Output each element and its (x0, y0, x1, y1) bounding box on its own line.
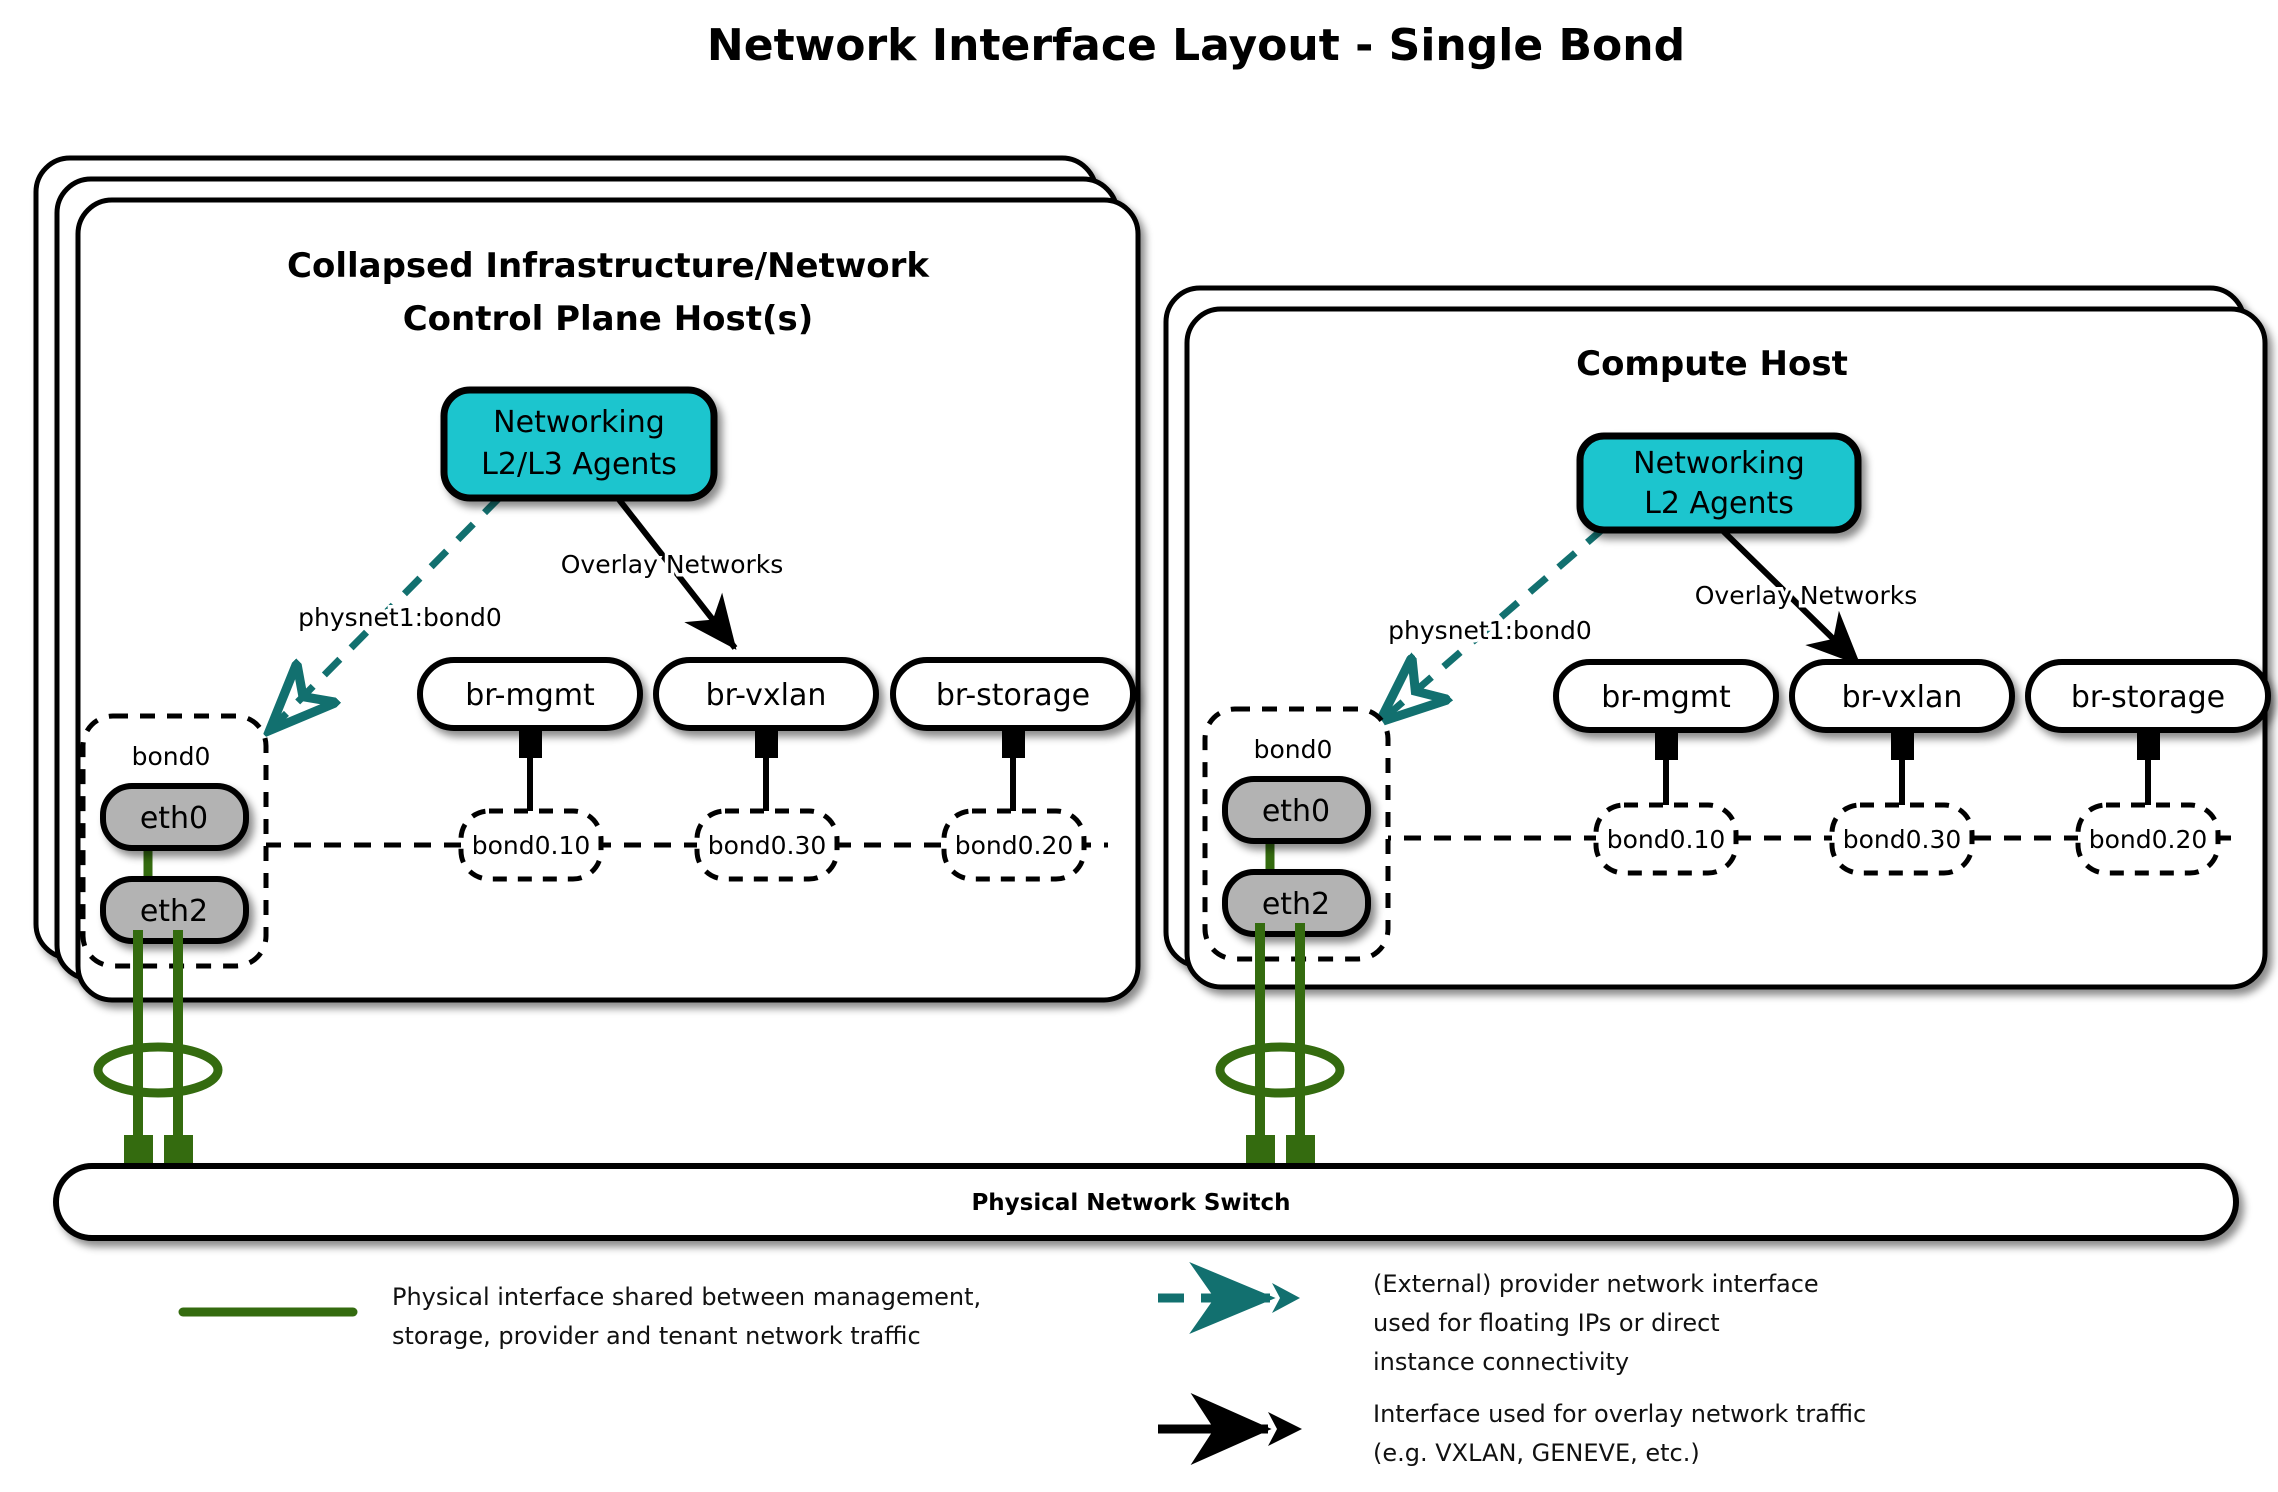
control-vlan-bond0-10-label: bond0.10 (472, 831, 591, 860)
legend-physical-interface-line2: storage, provider and tenant network tra… (392, 1322, 921, 1350)
control-nic-eth0-label: eth0 (140, 801, 208, 836)
control-bridge-br-vxlan-label: br-vxlan (706, 678, 827, 713)
compute-vlan-bond0-10-label: bond0.10 (1607, 825, 1726, 854)
compute-bridge-br-mgmt-label: br-mgmt (1601, 680, 1731, 715)
control-host-title-line2: Control Plane Host(s) (403, 299, 814, 339)
compute-provider-label: physnet1:bond0 (1388, 616, 1592, 645)
compute-host-title: Compute Host (1576, 344, 1848, 384)
legend-provider-network-line2: used for floating IPs or direct (1373, 1309, 1720, 1337)
compute-overlay-label: Overlay Networks (1695, 581, 1918, 610)
compute-agents-line1: Networking (1633, 446, 1805, 481)
compute-nic-eth2-label: eth2 (1262, 887, 1330, 922)
control-bond-ring-icon (98, 1047, 218, 1093)
control-vlan-bond0-20-label: bond0.20 (955, 831, 1074, 860)
control-nic-eth2-label: eth2 (140, 894, 208, 929)
compute-bond-ring-icon (1220, 1047, 1340, 1093)
legend-overlay-arrow-second-chevron (1268, 1412, 1302, 1446)
legend-provider-network-line1: (External) provider network interface (1373, 1270, 1819, 1298)
legend-provider-network-line3: instance connectivity (1373, 1348, 1629, 1376)
legend-provider-arrow-second-chevron (1272, 1283, 1300, 1313)
compute-nic-eth0-label: eth0 (1262, 794, 1330, 829)
page-title: Network Interface Layout - Single Bond (707, 20, 1685, 71)
compute-vlan-bond0-20-label: bond0.20 (2089, 825, 2208, 854)
control-overlay-label: Overlay Networks (561, 550, 784, 579)
control-bridge-br-storage-label: br-storage (936, 678, 1090, 713)
legend-overlay-network-line1: Interface used for overlay network traff… (1373, 1400, 1866, 1428)
compute-agents-line2: L2 Agents (1644, 486, 1794, 521)
control-host-title-line1: Collapsed Infrastructure/Network (287, 246, 930, 286)
compute-bridge-br-storage-label: br-storage (2071, 680, 2225, 715)
control-provider-label: physnet1:bond0 (298, 603, 502, 632)
compute-vlan-bond0-30-label: bond0.30 (1843, 825, 1962, 854)
control-bond0-label: bond0 (132, 742, 211, 771)
compute-bond0-label: bond0 (1254, 735, 1333, 764)
physical-network-switch-label: Physical Network Switch (971, 1190, 1290, 1216)
control-agents-line2: L2/L3 Agents (481, 447, 677, 482)
control-agents-line1: Networking (493, 405, 665, 440)
diagram-canvas: Network Interface Layout - Single Bond C… (0, 0, 2278, 1492)
control-bridge-br-mgmt-label: br-mgmt (465, 678, 595, 713)
control-vlan-bond0-30-label: bond0.30 (708, 831, 827, 860)
network-diagram: Network Interface Layout - Single Bond C… (0, 0, 2278, 1492)
legend-overlay-network-line2: (e.g. VXLAN, GENEVE, etc.) (1373, 1439, 1700, 1467)
compute-bridge-br-vxlan-label: br-vxlan (1842, 680, 1963, 715)
legend-physical-interface-line1: Physical interface shared between manage… (392, 1283, 981, 1311)
